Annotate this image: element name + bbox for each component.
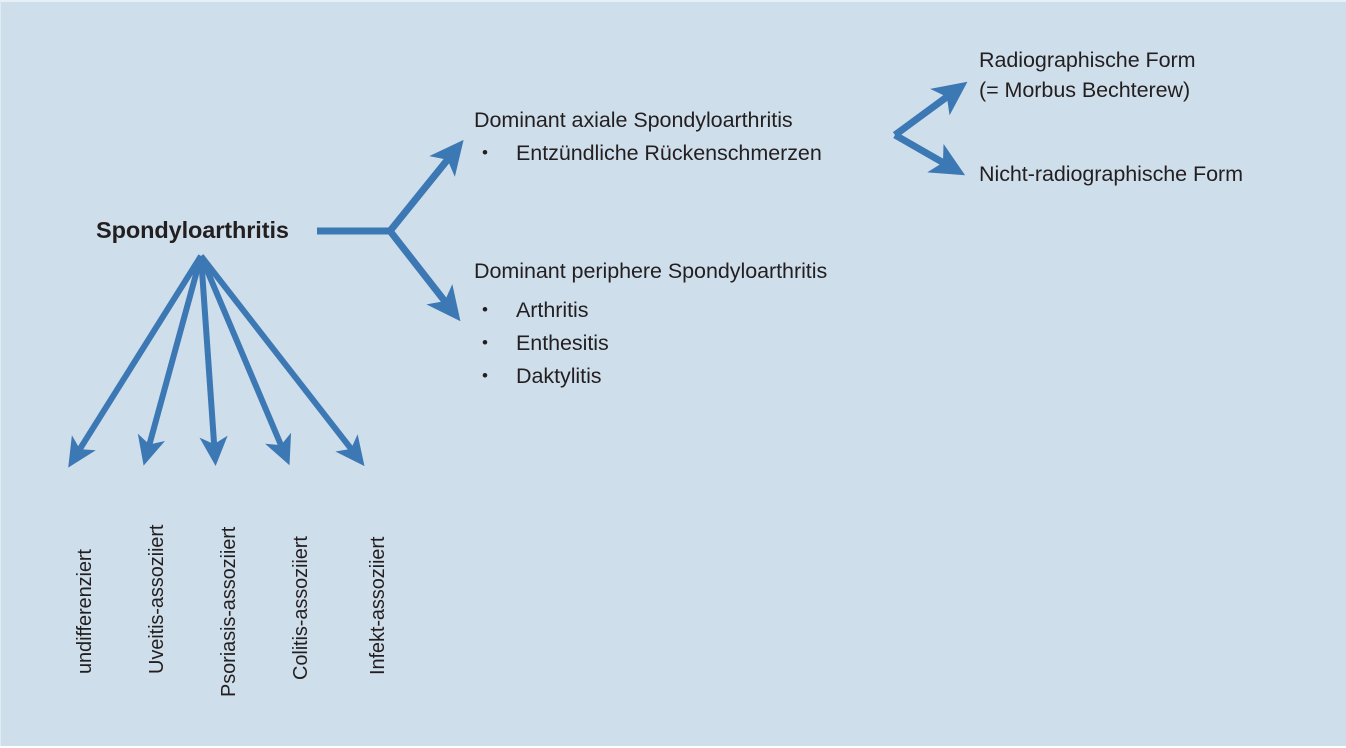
association-label-colitis: Colitis-assoziiert: [291, 536, 311, 680]
axial-branch-heading: Dominant axiale Spondyloarthritis: [474, 110, 793, 132]
association-arrow-fan: [73, 256, 359, 460]
bullet-icon: [482, 333, 516, 355]
peripheral-bullet-item: Arthritis: [482, 300, 588, 322]
root-node-label: Spondyloarthritis: [96, 219, 289, 243]
axial-subsplit-arrows: [895, 88, 959, 170]
peripheral-bullet-label: Enthesitis: [516, 331, 609, 355]
radiographic-form-line1: Radiographische Form: [979, 48, 1196, 72]
radiographic-form-label: Radiographische Form (= Morbus Bechterew…: [979, 50, 1196, 101]
arrow-uveitis: [146, 256, 201, 457]
arrow-undifferenziert: [73, 256, 201, 460]
arrow-infekt: [201, 256, 359, 459]
bullet-icon: [482, 366, 516, 388]
peripheral-branch-heading: Dominant periphere Spondyloarthritis: [474, 261, 827, 283]
bullet-icon: [482, 300, 516, 322]
peripheral-bullet-label: Arthritis: [516, 298, 588, 322]
peripheral-bullet-item: Daktylitis: [482, 366, 602, 388]
association-label-psoriasis: Psoriasis-assoziiert: [219, 527, 239, 697]
radiographic-form-line2: (= Morbus Bechterew): [979, 80, 1196, 102]
peripheral-bullet-label: Daktylitis: [516, 364, 602, 388]
axial-bullet-item: Entzündliche Rückenschmerzen: [482, 143, 822, 165]
nonradiographic-form-line1: Nicht-radiographische Form: [979, 162, 1243, 186]
bullet-icon: [482, 143, 516, 165]
association-label-undifferenziert: undifferenziert: [75, 549, 95, 674]
axial-bullet-label: Entzündliche Rückenschmerzen: [516, 141, 822, 165]
arrow-to-axial: [390, 148, 457, 231]
association-label-infekt: Infekt-assoziiert: [368, 537, 388, 675]
diagram-canvas: Spondyloarthritis Dominant axiale Spondy…: [0, 0, 1346, 746]
peripheral-bullet-item: Enthesitis: [482, 333, 609, 355]
nonradiographic-form-label: Nicht-radiographische Form: [979, 164, 1243, 186]
arrow-to-peripheral: [390, 231, 454, 313]
association-label-uveitis: Uveitis-assoziiert: [147, 525, 167, 674]
